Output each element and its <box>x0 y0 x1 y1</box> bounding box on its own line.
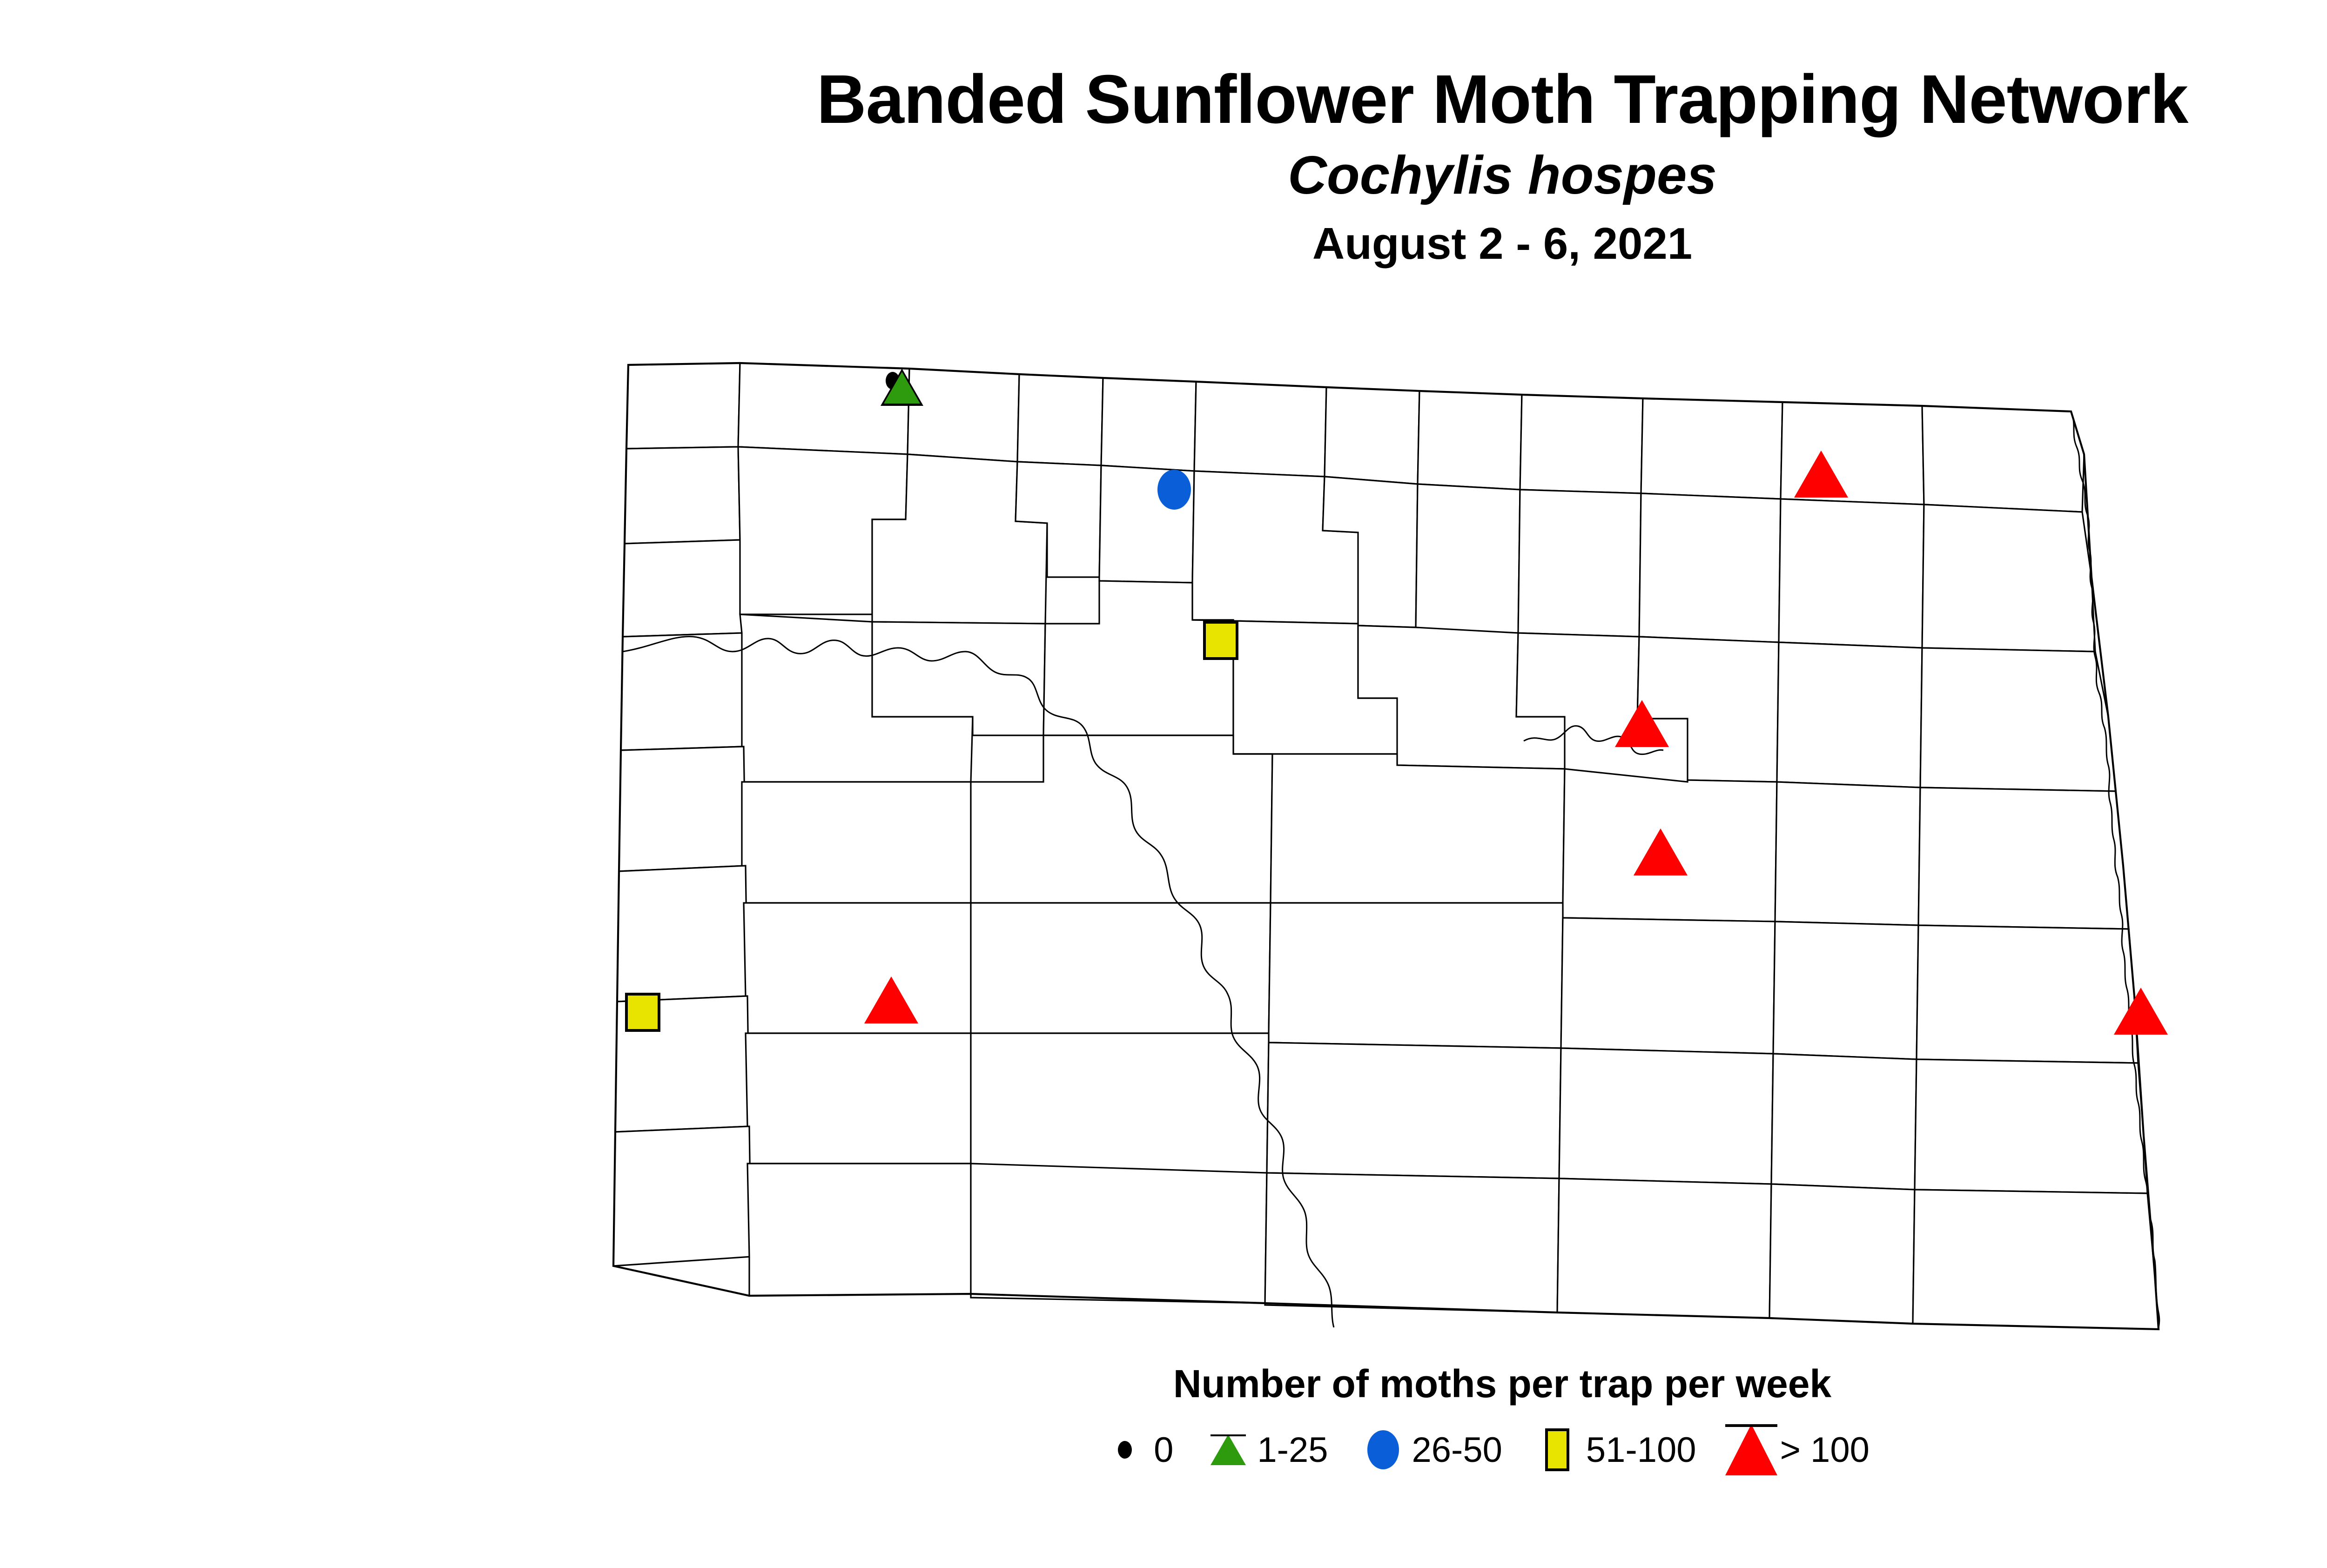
blue-circle-icon <box>1361 1430 1406 1469</box>
red-triangle-icon <box>1729 1424 1774 1475</box>
legend-label-2: 26-50 <box>1412 1430 1502 1470</box>
date-range: August 2 - 6, 2021 <box>0 222 2327 266</box>
marker-trap-site-w-yellow[interactable] <box>625 993 660 1032</box>
map-figure: Banded Sunflower Moth Trapping Network C… <box>0 0 2327 1568</box>
green-triangle-icon <box>1206 1434 1251 1465</box>
species-name: Cochylis hospes <box>0 148 2327 202</box>
title-block: Banded Sunflower Moth Trapping Network C… <box>0 0 2327 266</box>
black-dot-icon <box>1103 1441 1147 1459</box>
marker-trap-site-nc-yellow[interactable] <box>1203 621 1238 660</box>
legend-label-0: 0 <box>1154 1430 1173 1470</box>
yellow-square-icon <box>1535 1428 1580 1471</box>
legend-item-0[interactable]: 0 <box>1103 1430 1206 1470</box>
map-svg <box>582 344 2239 1345</box>
legend-heading: Number of moths per trap per week <box>0 1361 2327 1406</box>
legend-label-4: > 100 <box>1780 1430 1870 1470</box>
legend-item-2[interactable]: 26-50 <box>1361 1430 1535 1470</box>
legend-label-1: 1-25 <box>1257 1430 1328 1470</box>
legend-item-4[interactable]: > 100 <box>1729 1424 1902 1475</box>
legend: 0 1-25 26-50 51-100 > 100 <box>0 1424 2327 1475</box>
legend-item-3[interactable]: 51-100 <box>1535 1428 1729 1471</box>
north-dakota-county-map <box>582 344 2239 1345</box>
marker-trap-site-nc-blue[interactable] <box>1157 470 1191 510</box>
legend-item-1[interactable]: 1-25 <box>1206 1430 1360 1470</box>
page-title: Banded Sunflower Moth Trapping Network <box>0 65 2327 134</box>
county-boundaries <box>613 363 2159 1329</box>
legend-label-3: 51-100 <box>1586 1430 1696 1470</box>
